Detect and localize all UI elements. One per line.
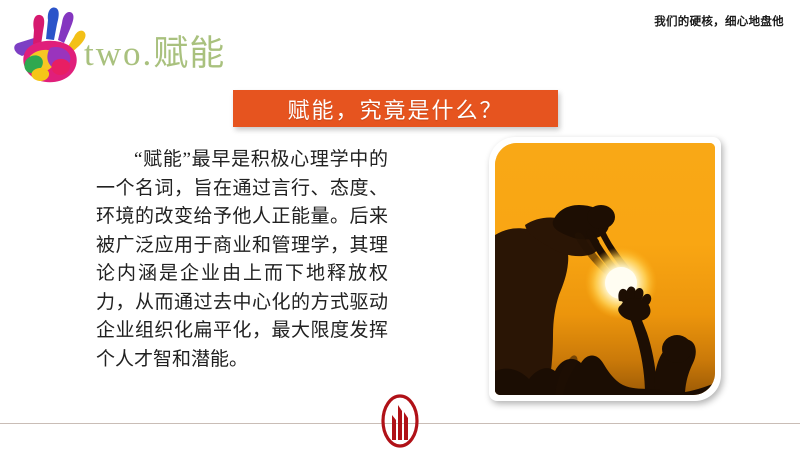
- banner-heading-label: 赋能，究竟是什么？: [287, 93, 503, 125]
- slide-canvas: 我们的硬核，细心地盘他 two.赋能 赋能，究竟是什么？: [0, 0, 800, 450]
- body-paragraph: “赋能”最早是积极心理学中的一个名词，旨在通过言行、态度、环境的改变给予他人正能…: [96, 146, 388, 374]
- banner-heading: 赋能，究竟是什么？: [233, 90, 558, 127]
- sunset-helping-hand-photo: [489, 137, 721, 401]
- colorful-handprint-icon: [12, 4, 90, 88]
- page-title: two.赋能: [84, 32, 225, 76]
- section-number: two.: [84, 34, 153, 73]
- photo-image: [495, 143, 715, 395]
- company-emblem-icon: [372, 393, 428, 449]
- section-title-text: 赋能: [153, 34, 225, 73]
- header-note: 我们的硬核，细心地盘他: [654, 13, 784, 29]
